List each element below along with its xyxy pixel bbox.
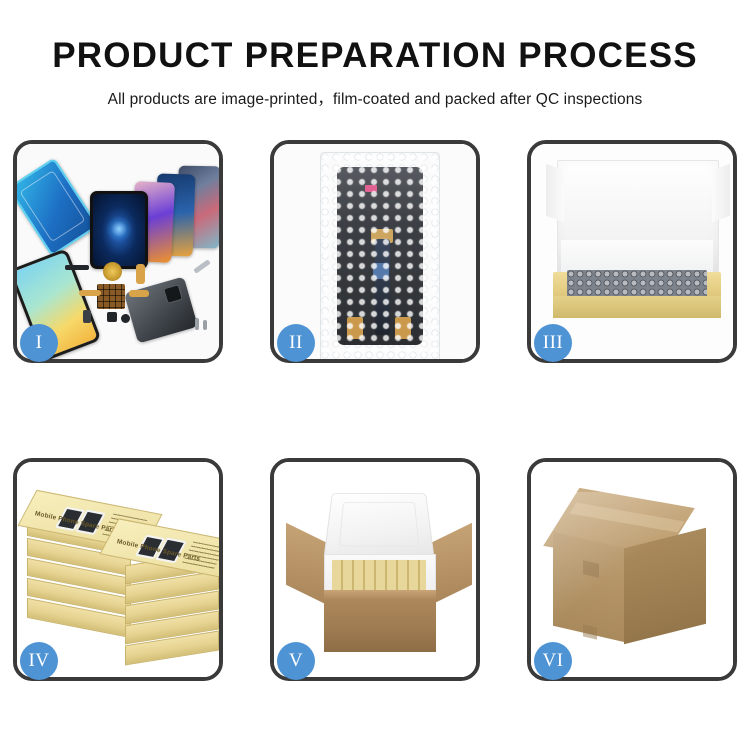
step-badge-6: VI bbox=[534, 642, 572, 680]
ic-chip-grid-icon bbox=[97, 284, 125, 309]
small-component-1-icon bbox=[107, 312, 117, 322]
bubble-wrap-bag-icon bbox=[320, 152, 440, 359]
process-step-panel-1: I bbox=[13, 140, 223, 363]
screen-flex-cable-icon bbox=[375, 239, 390, 335]
pink-label-icon bbox=[365, 185, 377, 192]
step-badge-2: II bbox=[277, 324, 315, 362]
driver-chip-icon bbox=[373, 263, 389, 279]
process-step-panel-4: Mobile Phone Spare Parts Mobile Phone Sp… bbox=[13, 458, 223, 681]
flex-cable-1-icon bbox=[136, 264, 145, 284]
foam-lid-icon bbox=[323, 493, 434, 558]
flex-cable-2-icon bbox=[129, 290, 149, 297]
carton-right-face bbox=[624, 528, 706, 644]
process-step-panel-6: VI bbox=[527, 458, 737, 681]
packing-tape-side-2 bbox=[583, 624, 597, 639]
speaker-coil-icon bbox=[103, 262, 122, 281]
small-component-2-icon bbox=[121, 314, 130, 323]
screw-1-icon bbox=[195, 318, 199, 330]
bubble-wrapped-items-icon bbox=[567, 270, 707, 298]
earpiece-mesh-icon bbox=[65, 265, 89, 270]
header: PRODUCT PREPARATION PROCESS All products… bbox=[0, 0, 750, 109]
step-badge-3: III bbox=[534, 324, 572, 362]
phone-back-cover-icon bbox=[124, 276, 198, 343]
step-badge-1: I bbox=[20, 324, 58, 362]
process-step-panel-5: V bbox=[270, 458, 480, 681]
product-preparation-process-infographic: PRODUCT PREPARATION PROCESS All products… bbox=[0, 0, 750, 750]
tweezers-icon bbox=[193, 259, 211, 273]
step-badge-5: V bbox=[277, 642, 315, 680]
yellow-box-front-icon bbox=[553, 296, 721, 318]
small-component-3-icon bbox=[83, 310, 91, 323]
gold-tab-right-icon bbox=[395, 317, 411, 339]
page-title: PRODUCT PREPARATION PROCESS bbox=[0, 0, 750, 76]
process-step-panel-3: III bbox=[527, 140, 737, 363]
gold-tab-left-icon bbox=[347, 317, 363, 339]
phone-glass-panel-icon bbox=[90, 191, 148, 269]
process-step-grid: I bbox=[13, 140, 745, 681]
screw-2-icon bbox=[203, 320, 207, 330]
carton-body-icon bbox=[324, 590, 436, 652]
page-subtitle: All products are image-printed，film-coat… bbox=[0, 76, 750, 109]
flex-cable-3-icon bbox=[79, 290, 101, 296]
lcd-screen-icon bbox=[337, 167, 423, 345]
blue-backplate-icon bbox=[17, 157, 99, 256]
process-step-panel-2: II bbox=[270, 140, 480, 363]
step-badge-4: IV bbox=[20, 642, 58, 680]
